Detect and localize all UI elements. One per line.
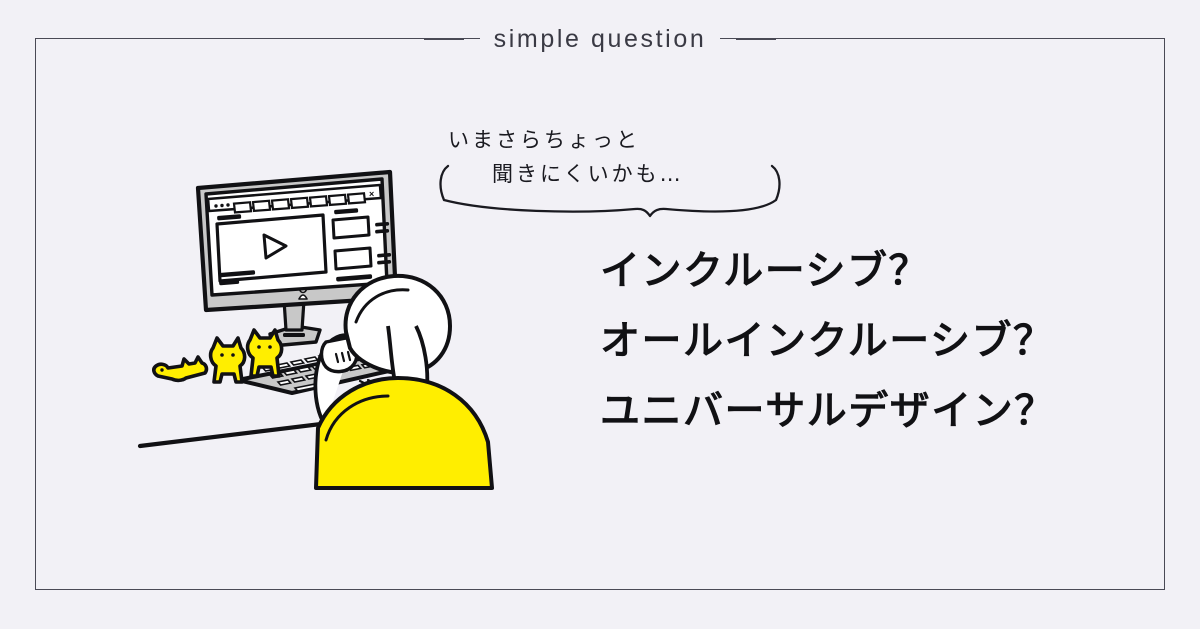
page-title: simple question [0,20,1200,58]
slide-canvas: simple question いまさらちょっと 聞きにくいかも… インクルーシ… [0,0,1200,629]
title-rule-right [736,38,776,40]
browser-dot-3 [226,203,229,206]
headline-line-3: ユニバーサルデザイン？ [600,376,1120,446]
browser-dot-2 [220,204,223,207]
sidebar-thumb-1[interactable] [333,217,369,238]
headline-list: インクルーシブ？ オールインクルーシブ？ ユニバーサルデザイン？ [600,236,1120,446]
person-shirt [316,378,492,488]
browser-close-icon[interactable]: × [369,189,374,199]
bubble-text-line-2: 聞きにくいかも… [492,158,684,188]
browser-dot-1 [214,204,217,207]
headline-line-2: オールインクルーシブ？ [600,306,1120,376]
bubble-text-line-1: いまさらちょっと [448,124,640,154]
headline-line-1: インクルーシブ？ [600,236,1120,306]
speech-bubble: いまさらちょっと 聞きにくいかも… [430,108,790,220]
cat-sitting-1 [211,338,245,382]
sidebar-thumb-2[interactable] [335,248,371,269]
page-title-text: simple question [480,27,721,52]
monitor-stand-notch [283,333,305,337]
title-rule-left [424,38,464,40]
cat-lying [154,357,207,380]
